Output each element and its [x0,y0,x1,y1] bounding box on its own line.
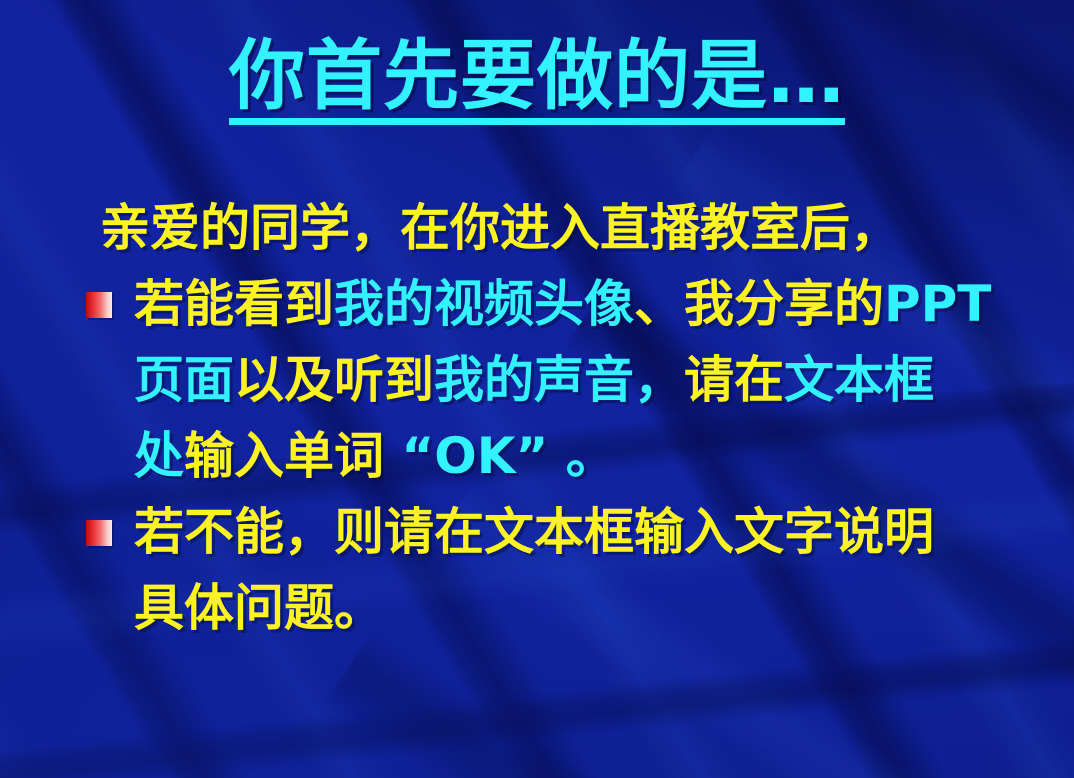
body-text-segment: 以及听到 [234,351,434,409]
slide-content: 你首先要做的是… 亲爱的同学，在你进入直播教室后，若能看到我的视频头像、我分享的… [0,0,1074,778]
body-text-segment: 、我分享的 [634,275,884,333]
body-text-segment: “OK” [384,427,548,485]
body-text-segment: 文本框 [784,351,934,409]
body-text-segment: 亲爱的同学，在你进入直播教室后， [100,199,900,257]
body-text-segment: 。 [548,427,615,485]
body-line: 若能看到我的视频头像、我分享的PPT [78,266,1038,342]
body-line: 具体问题。 [78,570,1038,646]
slide-title-text: 你首先要做的是… [229,38,845,125]
body-line: 处输入单词 “OK” 。 [78,418,1038,494]
body-text-segment: 具体问题。 [134,579,384,637]
body-text-segment: 请在 [684,351,784,409]
presentation-slide: 你首先要做的是… 亲爱的同学，在你进入直播教室后，若能看到我的视频头像、我分享的… [0,0,1074,778]
slide-body: 亲爱的同学，在你进入直播教室后，若能看到我的视频头像、我分享的PPT页面以及听到… [78,190,1038,646]
body-text-segment: PPT [884,275,991,333]
body-text-segment: 我的视频头像 [334,275,634,333]
body-line: 页面以及听到我的声音，请在文本框 [78,342,1038,418]
slide-title: 你首先要做的是… [0,38,1074,125]
body-text-segment: 处 [134,427,184,485]
body-text-segment: 若不能，则请在文本框输入文字说明 [134,503,934,561]
body-line: 亲爱的同学，在你进入直播教室后， [78,190,1038,266]
body-text-segment: 我的声音， [434,351,684,409]
body-line: 若不能，则请在文本框输入文字说明 [78,494,1038,570]
body-text-segment: 输入单词 [184,427,384,485]
bullet-square-icon [86,292,112,318]
body-text-segment: 若能看到 [134,275,334,333]
bullet-square-icon [86,520,112,546]
body-text-segment: 页面 [134,351,234,409]
